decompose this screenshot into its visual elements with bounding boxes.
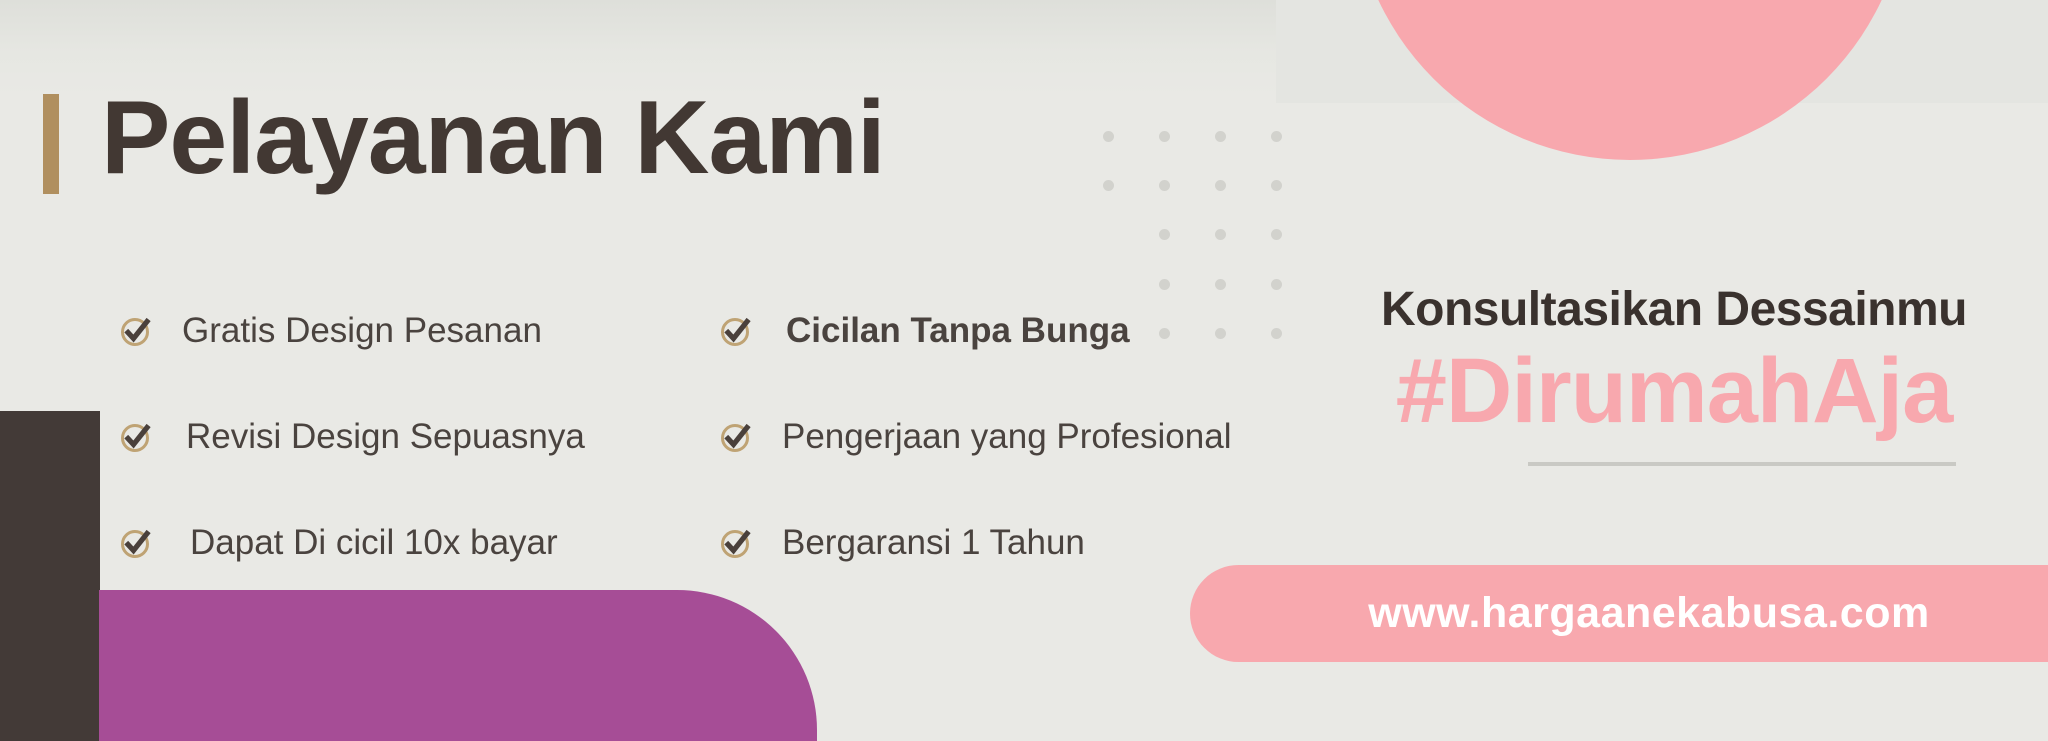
check-circle-icon: [718, 525, 754, 561]
page-title: Pelayanan Kami: [101, 82, 885, 194]
promo-underline: [1528, 462, 1956, 466]
check-circle-icon: [718, 419, 754, 455]
service-banner: Pelayanan Kami Gratis Design Pesanan: [0, 0, 2048, 741]
feature-label: Bergaransi 1 Tahun: [782, 523, 1085, 563]
purple-rounded-shape-decoration: [99, 590, 817, 741]
website-band: www.hargaanekabusa.com: [1190, 565, 2048, 662]
feature-item: Bergaransi 1 Tahun: [718, 490, 1278, 596]
title-accent-bar: [43, 94, 59, 194]
features-column-2: Cicilan Tanpa Bunga Pengerjaan yang Prof…: [718, 278, 1278, 596]
check-circle-icon: [118, 419, 154, 455]
feature-label: Cicilan Tanpa Bunga: [786, 311, 1130, 351]
promo-block: Konsultasikan Dessainmu #DirumahAja: [1300, 282, 2048, 439]
check-circle-icon: [718, 313, 754, 349]
website-url[interactable]: www.hargaanekabusa.com: [1308, 589, 1929, 638]
feature-label: Revisi Design Sepuasnya: [186, 417, 585, 457]
feature-item: Gratis Design Pesanan: [118, 278, 718, 384]
feature-item: Pengerjaan yang Profesional: [718, 384, 1278, 490]
check-circle-icon: [118, 313, 154, 349]
feature-item: Dapat Di cicil 10x bayar: [118, 490, 718, 596]
dark-block-decoration: [0, 411, 100, 741]
check-circle-icon: [118, 525, 154, 561]
feature-label: Gratis Design Pesanan: [182, 311, 542, 351]
features-column-1: Gratis Design Pesanan Revisi Design Sepu…: [118, 278, 718, 596]
banner-heading: Pelayanan Kami: [43, 82, 885, 194]
feature-label: Pengerjaan yang Profesional: [782, 417, 1231, 457]
feature-item: Revisi Design Sepuasnya: [118, 384, 718, 490]
promo-hashtag: #DirumahAja: [1300, 343, 2048, 439]
feature-item: Cicilan Tanpa Bunga: [718, 278, 1278, 384]
promo-headline: Konsultasikan Dessainmu: [1300, 282, 2048, 337]
features-section: Gratis Design Pesanan Revisi Design Sepu…: [118, 278, 1278, 596]
feature-label: Dapat Di cicil 10x bayar: [190, 523, 558, 563]
